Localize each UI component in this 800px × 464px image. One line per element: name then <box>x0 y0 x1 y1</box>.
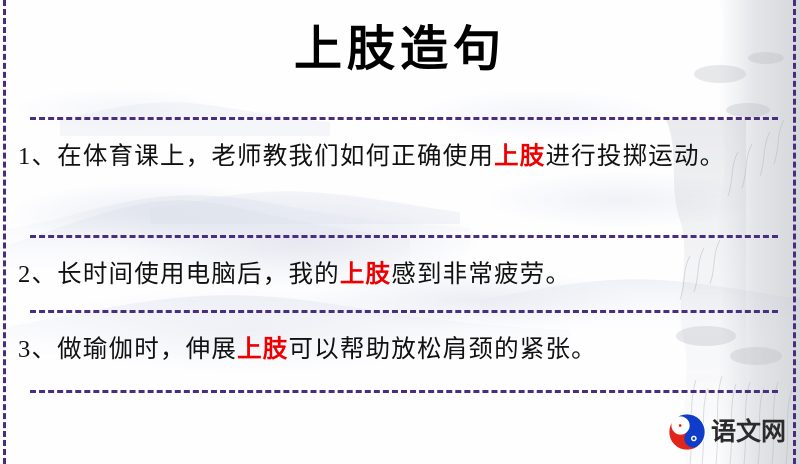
divider-sentence-1 <box>30 235 778 238</box>
sentence-2-number: 2、 <box>18 261 57 288</box>
sentence-2-text-after: 感到非常疲劳。 <box>391 261 571 288</box>
sentence-item-2: 2、长时间使用电脑后，我的上肢感到非常疲劳。 <box>18 251 774 298</box>
sentence-2-text-before: 长时间使用电脑后，我的 <box>57 261 340 288</box>
sentence-item-1: 1、在体育课上，老师教我们如何正确使用上肢进行投掷运动。 <box>18 133 774 180</box>
sentence-3-text-after: 可以帮助放松肩颈的紧张。 <box>288 336 596 363</box>
sentence-1-keyword: 上肢 <box>494 143 545 170</box>
sentence-3-text-before: 做瑜伽时，伸展 <box>57 336 237 363</box>
sentence-1-number: 1、 <box>18 143 57 170</box>
sentence-3-number: 3、 <box>18 336 57 363</box>
page-title: 上肢造句 <box>0 22 800 77</box>
sentence-item-3: 3、做瑜伽时，伸展上肢可以帮助放松肩颈的紧张。 <box>18 326 774 373</box>
slide-canvas: 上肢造句 1、在体育课上，老师教我们如何正确使用上肢进行投掷运动。 2、长时间使… <box>0 0 800 464</box>
divider-title <box>30 117 778 120</box>
divider-sentence-2 <box>30 310 778 313</box>
sentence-1-text-after: 进行投掷运动。 <box>545 143 725 170</box>
sentence-3-keyword: 上肢 <box>237 336 288 363</box>
site-logo-text: 语文网 <box>711 420 786 445</box>
yin-yang-logo-icon <box>668 413 706 451</box>
site-logo[interactable]: 语文网 <box>668 410 792 454</box>
sentence-1-text-before: 在体育课上，老师教我们如何正确使用 <box>57 143 494 170</box>
sentence-2-keyword: 上肢 <box>340 261 391 288</box>
divider-sentence-3 <box>30 390 778 393</box>
